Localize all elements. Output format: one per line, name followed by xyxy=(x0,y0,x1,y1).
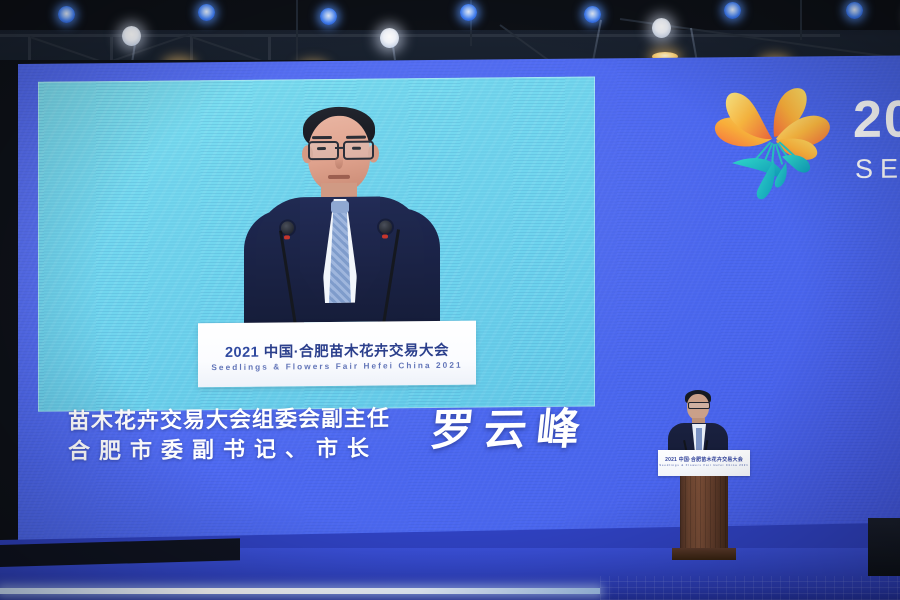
speaker-name: 罗云峰 xyxy=(428,394,594,458)
truss-post xyxy=(110,34,113,62)
flower-logo-icon xyxy=(698,76,848,202)
blue-spotlight-icon xyxy=(58,6,75,23)
rigging-cable xyxy=(800,0,802,40)
blue-spotlight-icon xyxy=(460,4,477,21)
live-speaker-at-podium: 2021 中国·合肥苗木花卉交易大会 Seedlings & Flowers F… xyxy=(640,388,810,580)
ceiling-dark-band xyxy=(0,0,900,30)
rigging-cable xyxy=(296,0,298,60)
podium-base xyxy=(672,548,736,560)
white-spotlight-icon xyxy=(380,28,399,48)
caption-line-2: 合肥市委副书记、市长 xyxy=(68,431,378,466)
stage-led-strip xyxy=(0,588,600,594)
live-podium-sign: 2021 中国·合肥苗木花卉交易大会 Seedlings & Flowers F… xyxy=(658,450,750,476)
live-sign-title-en: Seedlings & Flowers Fair Hefei China 202… xyxy=(658,464,750,467)
blue-spotlight-icon xyxy=(846,2,863,19)
event-branding-block: 20 SE xyxy=(698,75,900,207)
podium-fluting xyxy=(680,476,728,552)
truss-post xyxy=(268,34,271,62)
branding-month-text: SE xyxy=(855,153,900,184)
stage-speaker-box xyxy=(868,518,900,576)
live-speaker-eyeglasses-icon xyxy=(688,402,710,409)
white-spotlight-icon xyxy=(122,26,141,46)
white-spotlight-icon xyxy=(652,18,671,38)
blue-spotlight-icon xyxy=(724,2,741,19)
live-sign-title-zh: 2021 中国·合肥苗木花卉交易大会 xyxy=(658,456,750,463)
branding-year-text: 20 xyxy=(853,89,900,150)
blue-spotlight-icon xyxy=(584,6,601,23)
lower-third-caption: 苗木花卉交易大会组委会副主任 合肥市委副书记、市长 罗云峰 xyxy=(68,398,628,465)
blue-spotlight-icon xyxy=(320,8,337,25)
video-panel-border xyxy=(38,76,595,411)
blue-spotlight-icon xyxy=(198,4,215,21)
video-feed-panel: 2021 中国·合肥苗木花卉交易大会 Seedlings & Flowers F… xyxy=(38,76,595,411)
podium-column xyxy=(680,476,728,552)
conference-stage-photo: 2021 中国·合肥苗木花卉交易大会 Seedlings & Flowers F… xyxy=(0,0,900,600)
